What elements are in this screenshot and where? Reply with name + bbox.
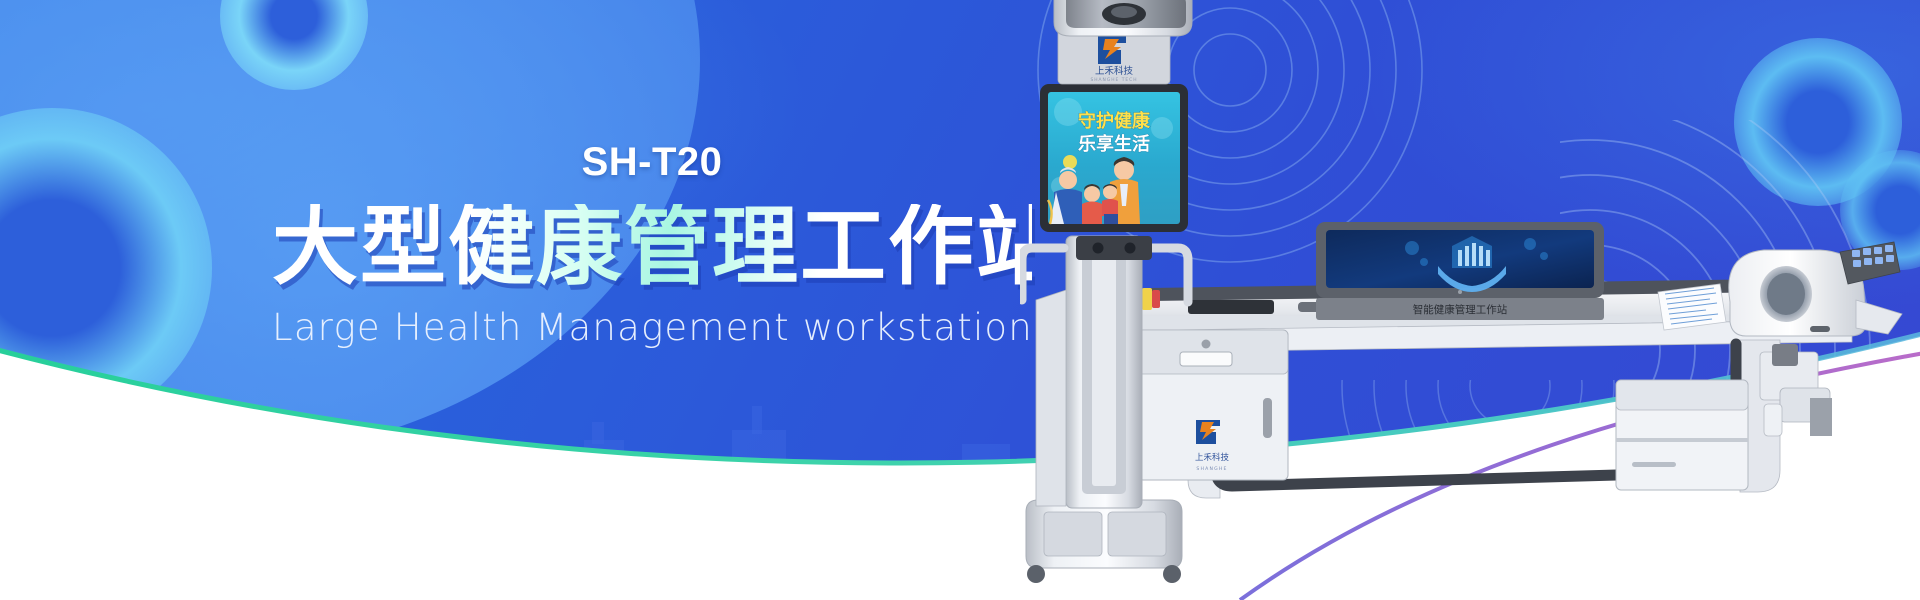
accessory-holder [1760,344,1832,436]
kiosk-brand-sub: SHANGHE TECH [1090,77,1137,83]
height-sensor-head [1054,0,1192,36]
monitor-bezel-label: 智能健康管理工作站 [1413,303,1508,316]
printer-cabinet: 上禾科技 SHANGHE [1138,330,1288,480]
cabinet-logo-sub: SHANGHE [1196,466,1227,472]
kiosk-screen-title-line2: 乐享生活 [1078,133,1150,155]
printer-drawer [1616,380,1748,490]
desk-monitor: 智能健康管理工作站 [1316,222,1604,320]
blood-pressure-monitor [1729,242,1902,336]
model-code: SH-T20 [272,142,1032,182]
report-printout [1658,284,1726,330]
cabinet-logo-text: 上禾科技 [1195,452,1230,463]
health-workstation-desk: 上禾科技 SHANGHE [1138,222,1902,498]
kiosk-screen-title-line1: 守护健康 [1078,110,1151,132]
product-banner: SH-T20 大型健康管理工作站 Large Health Management… [0,0,1920,600]
page-title: 大型健康管理工作站 [272,204,1032,292]
product-illustration: 上禾科技 SHANGHE [1020,0,1920,600]
color-background-blue: #2a5fdb [0,0,1,1]
kiosk-brand-text: 上禾科技 [1095,65,1134,77]
desk-clip-accessory [1142,288,1160,310]
kiosk-display: 守护健康 乐享生活 [1040,84,1188,232]
banner-copy: SH-T20 大型健康管理工作站 Large Health Management… [272,142,1032,349]
page-subtitle: Large Health Management workstation [272,306,1032,349]
